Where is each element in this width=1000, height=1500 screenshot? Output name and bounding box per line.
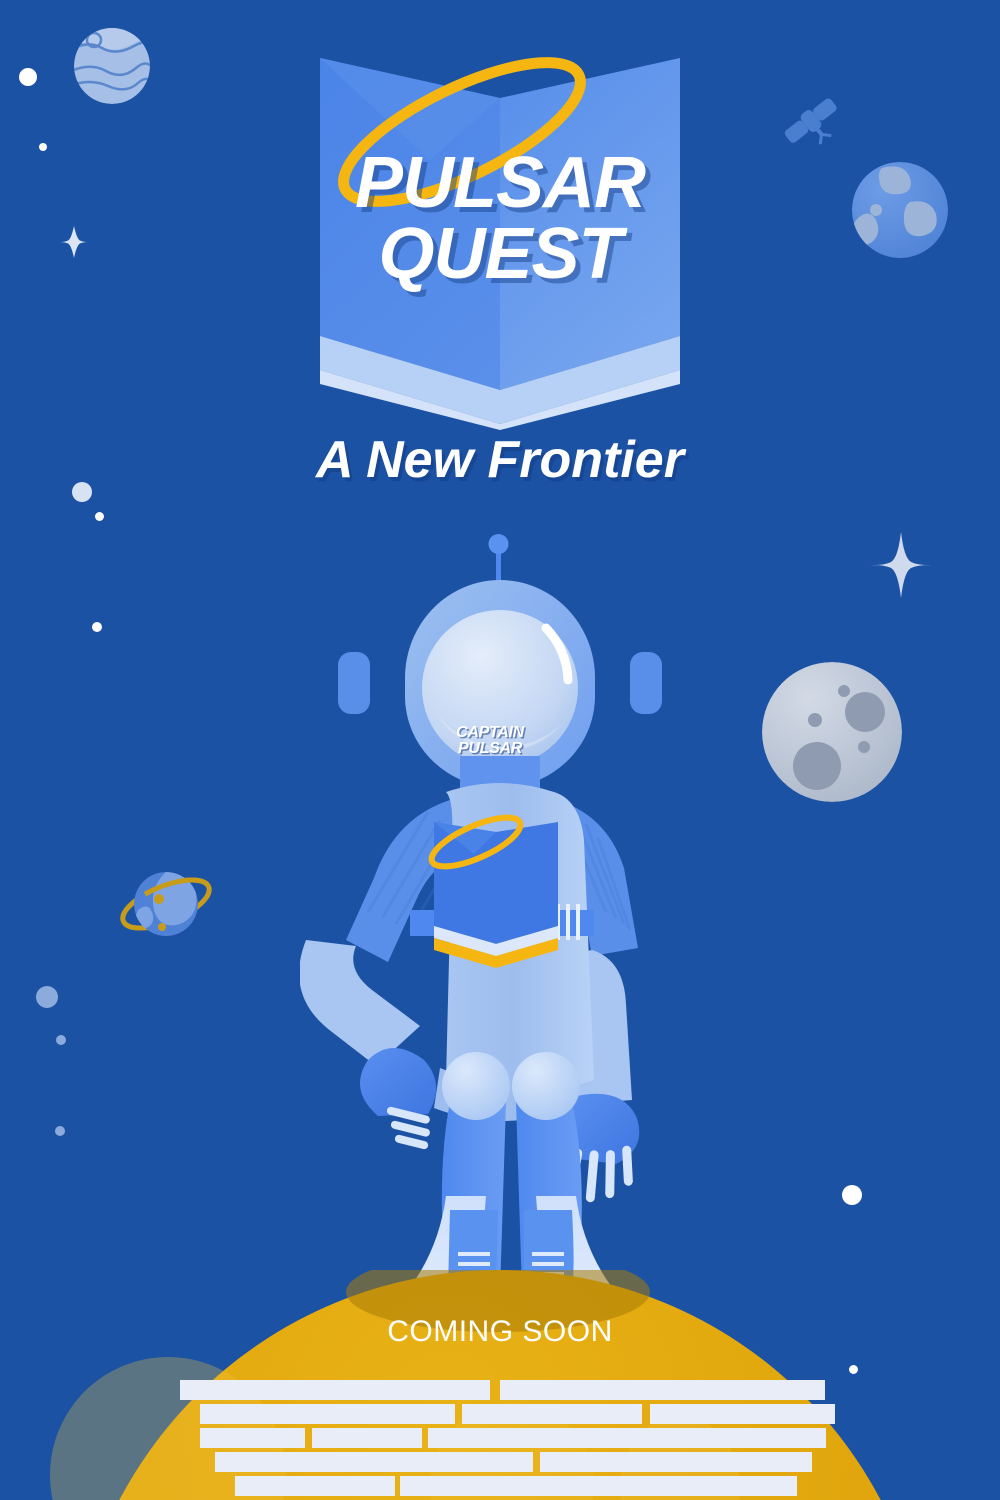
sparkle-small-left-icon: [58, 226, 90, 258]
placeholder-bar: [235, 1476, 395, 1496]
star-dot: [36, 986, 58, 1008]
star-dot: [92, 622, 102, 632]
placeholder-bar: [312, 1428, 422, 1448]
planet-ringed-blue: [116, 856, 216, 952]
planet-striped-blue: [74, 28, 150, 104]
placeholder-bar: [650, 1404, 835, 1424]
placeholder-bar: [400, 1476, 797, 1496]
placeholder-bars: [0, 1380, 1000, 1500]
right-knee: [512, 1052, 580, 1120]
star-dot: [39, 143, 47, 151]
placeholder-bar: [180, 1380, 490, 1400]
star-dot: [19, 68, 37, 86]
satellite-icon: [778, 88, 844, 154]
chest-badge: [426, 808, 558, 968]
planet-earth-like: [852, 162, 948, 258]
moon-grey-cratered: [762, 662, 902, 802]
chest-badge-line2: PULSAR: [458, 740, 522, 757]
status-coming-soon: COMING SOON: [0, 1315, 1000, 1349]
chest-badge-text: CAPTAIN PULSAR: [436, 725, 544, 758]
star-dot: [95, 512, 104, 521]
placeholder-bar: [200, 1428, 305, 1448]
chest-badge-line1: CAPTAIN: [456, 724, 524, 741]
placeholder-bar: [428, 1428, 826, 1448]
left-knee: [442, 1052, 510, 1120]
logo-block: PULSAR QUEST: [310, 40, 690, 430]
star-dot: [56, 1035, 66, 1045]
sparkle-large-right-icon: [870, 532, 932, 598]
poster-canvas: PULSAR QUEST A New Frontier: [0, 0, 1000, 1500]
placeholder-bar: [215, 1452, 533, 1472]
placeholder-bar: [462, 1404, 642, 1424]
tagline: A New Frontier: [0, 430, 1000, 490]
logo-title: PULSAR QUEST: [310, 148, 690, 291]
placeholder-bar: [200, 1404, 455, 1424]
astronaut-figure: [300, 520, 700, 1310]
star-dot: [55, 1126, 65, 1136]
placeholder-bar: [500, 1380, 825, 1400]
logo-title-line2: QUEST: [310, 219, 690, 290]
placeholder-bar: [540, 1452, 812, 1472]
star-dot: [842, 1185, 862, 1205]
logo-title-line1: PULSAR: [355, 143, 645, 223]
